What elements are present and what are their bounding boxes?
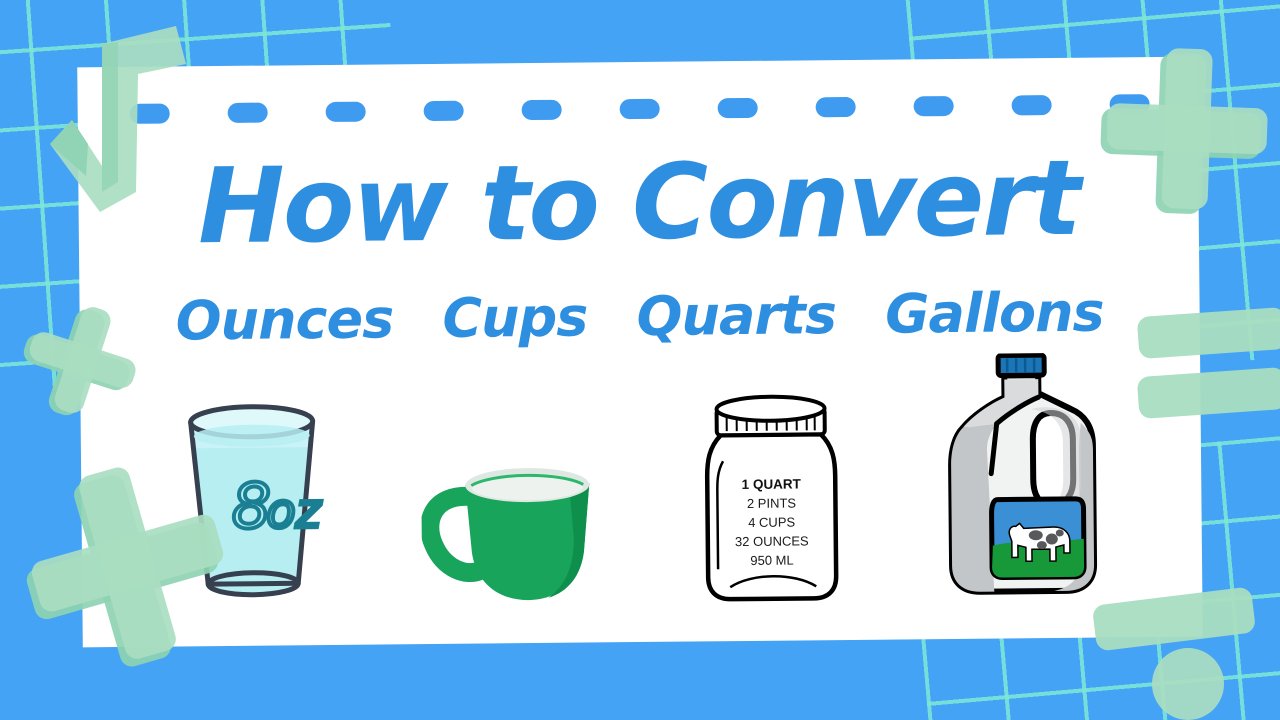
unit-label-quarts: Quarts (636, 288, 836, 344)
jar-label-line-3: 32 OUNCES (735, 533, 809, 549)
dash-segment (816, 97, 856, 117)
water-glass-illustration: 8 oz (176, 395, 328, 616)
glass-unit-text: oz (266, 483, 323, 540)
dash-segment (1012, 95, 1052, 115)
page-title: How to Convert (78, 145, 1199, 260)
dash-segment (326, 102, 366, 122)
unit-label-row: Ounces Cups Quarts Gallons (175, 286, 1103, 349)
jar-label-line-2: 4 CUPS (748, 515, 795, 530)
milk-jug-illustration (934, 353, 1106, 610)
mason-jar-illustration: 1 QUART 2 PINTS 4 CUPS 32 OUNCES 950 ML (700, 390, 842, 611)
dash-segment (914, 96, 954, 116)
unit-label-cups: Cups (442, 291, 587, 346)
jar-label-headline: 1 QUART (741, 476, 801, 492)
dash-segment (718, 98, 758, 118)
mason-jar-icon: 1 QUART 2 PINTS 4 CUPS 32 OUNCES 950 ML (700, 390, 842, 606)
unit-label-gallons: Gallons (885, 286, 1104, 342)
dash-segment (522, 100, 562, 120)
milk-jug-icon (934, 353, 1106, 605)
jar-label-line-4: 950 ML (750, 553, 794, 568)
white-card-panel: How to Convert Ounces Cups Quarts Gallon… (77, 57, 1203, 648)
jug-label (991, 499, 1084, 578)
dash-segment (620, 99, 660, 119)
dash-segment (130, 104, 170, 124)
dash-segment (1110, 94, 1150, 114)
jar-label-line-1: 2 PINTS (746, 496, 796, 511)
water-glass-icon: 8 oz (176, 395, 328, 611)
circle-bottom-right-lower-decoration (1152, 648, 1224, 720)
dash-segment (228, 103, 268, 123)
dash-segment (424, 101, 464, 121)
dashed-divider (130, 93, 1150, 125)
unit-label-ounces: Ounces (175, 292, 393, 348)
illustration-row: 8 oz (176, 358, 1106, 617)
coffee-mug-icon (421, 457, 607, 609)
poster-canvas: How to Convert Ounces Cups Quarts Gallon… (0, 0, 1280, 720)
coffee-mug-illustration (421, 457, 607, 614)
